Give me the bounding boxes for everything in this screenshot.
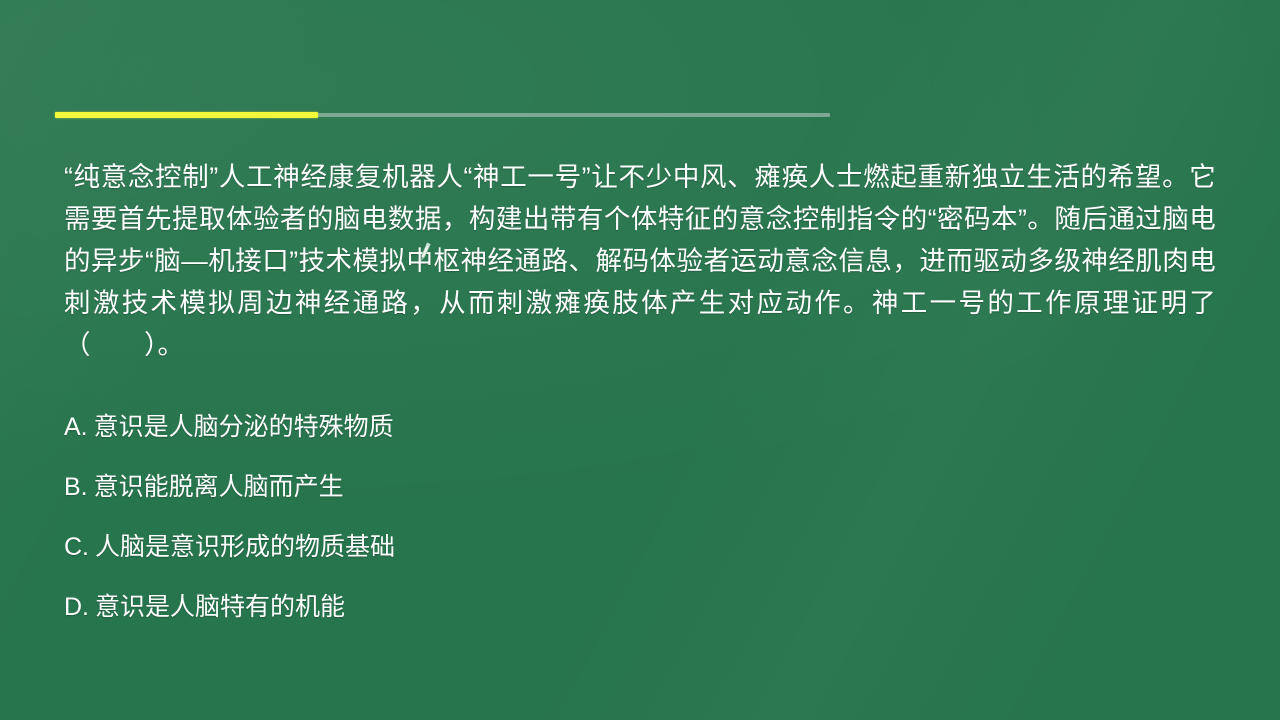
option-c[interactable]: C.人脑是意识形成的物质基础 <box>64 532 1064 562</box>
slide-canvas: “纯意念控制”人工神经康复机器人“神工一号”让不少中风、瘫痪人士燃起重新独立生活… <box>0 0 1280 720</box>
option-d[interactable]: D.意识是人脑特有的机能 <box>64 592 1064 622</box>
option-d-text: 意识是人脑特有的机能 <box>95 593 345 621</box>
option-d-label: D. <box>64 592 89 622</box>
option-b-text: 意识能脱离人脑而产生 <box>94 473 344 501</box>
question-stem: “纯意念控制”人工神经康复机器人“神工一号”让不少中风、瘫痪人士燃起重新独立生活… <box>64 156 1216 366</box>
divider-accent <box>55 112 318 118</box>
options-list: A.意识是人脑分泌的特殊物质 B.意识能脱离人脑而产生 C.人脑是意识形成的物质… <box>64 412 1064 652</box>
option-a-text: 意识是人脑分泌的特殊物质 <box>94 413 394 441</box>
option-a-label: A. <box>64 412 88 442</box>
divider <box>55 112 830 118</box>
option-b-label: B. <box>64 472 88 502</box>
option-c-label: C. <box>64 532 89 562</box>
option-b[interactable]: B.意识能脱离人脑而产生 <box>64 472 1064 502</box>
question-stem-block: “纯意念控制”人工神经康复机器人“神工一号”让不少中风、瘫痪人士燃起重新独立生活… <box>64 156 1216 366</box>
option-a[interactable]: A.意识是人脑分泌的特殊物质 <box>64 412 1064 442</box>
option-c-text: 人脑是意识形成的物质基础 <box>95 533 395 561</box>
